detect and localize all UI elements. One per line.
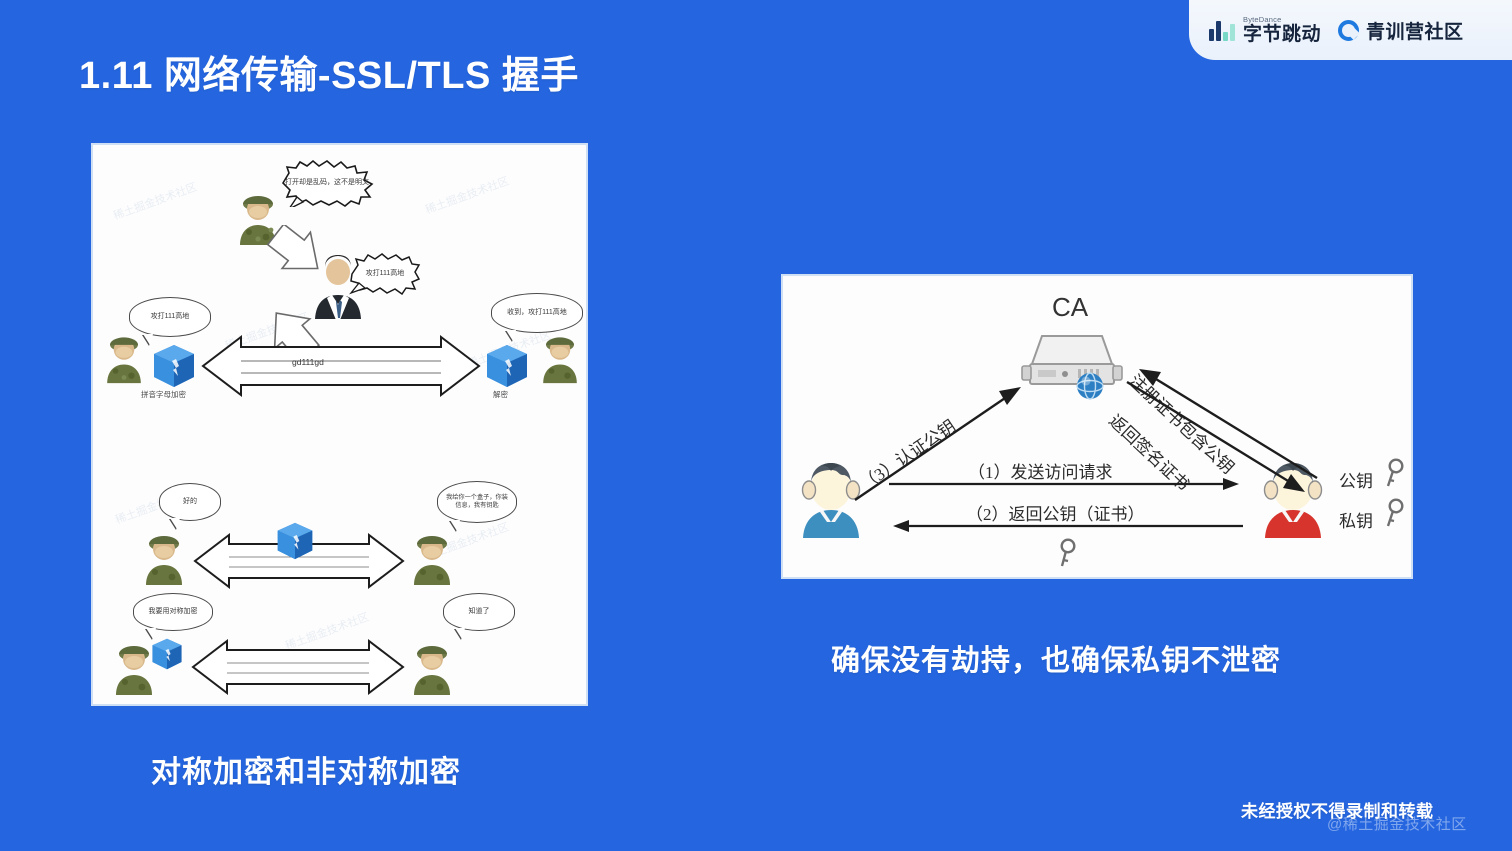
encrypt-cube-label: 拼音字母加密 bbox=[141, 389, 186, 400]
page-title: 1.11 网络传输-SSL/TLS 握手 bbox=[79, 44, 579, 99]
key-icon bbox=[1055, 538, 1079, 568]
left-figure-caption: 对称加密和非对称加密 bbox=[151, 747, 461, 791]
server-globe-icon bbox=[1020, 328, 1124, 400]
soldier-icon bbox=[409, 637, 455, 697]
speech-bubble-text: 收到，攻打111高地 bbox=[507, 309, 567, 318]
community-logo-icon bbox=[1338, 20, 1359, 41]
decryption-cube-icon bbox=[485, 343, 529, 389]
speech-bubble-text: 攻打111高地 bbox=[151, 313, 190, 322]
bytedance-logo-icon bbox=[1209, 19, 1235, 41]
bytedance-en-label: ByteDance bbox=[1243, 16, 1321, 24]
speech-bubble-man: 攻打111高地 bbox=[349, 253, 421, 295]
bidirectional-arrow bbox=[191, 639, 405, 695]
symmetric-key-cube-icon bbox=[151, 637, 183, 671]
cipher-text-label: gd111gd bbox=[292, 357, 324, 367]
key-icon bbox=[1381, 458, 1407, 488]
speech-bubble-left-soldier: 攻打111高地 bbox=[129, 297, 211, 337]
slide-root: ByteDance 字节跳动 青训营社区 1.11 网络传输-SSL/TLS 握… bbox=[0, 0, 1512, 851]
watermark: 稀土掘金技术社区 bbox=[423, 172, 511, 217]
soldier-icon bbox=[141, 527, 187, 587]
private-key-label: 私钥 bbox=[1339, 507, 1373, 532]
speech-bubble-text: 攻打111高地 bbox=[366, 270, 405, 279]
speech-bubble-right-soldier: 收到，攻打111高地 bbox=[491, 293, 583, 333]
bidirectional-arrow bbox=[201, 335, 481, 397]
speech-bubble-text: 打开却是乱码，这不是明文 bbox=[285, 179, 369, 188]
speech-bubble-text: 我给你一个盒子，你装信息，我有钥匙 bbox=[444, 494, 510, 510]
shared-key-cube-icon bbox=[276, 521, 314, 561]
encryption-cube-icon bbox=[152, 343, 196, 389]
ca-label: CA bbox=[1052, 292, 1088, 323]
speech-bubble-row3-left: 我要用对称加密 bbox=[133, 593, 213, 631]
key-icon bbox=[1381, 498, 1407, 528]
public-key-label: 公钥 bbox=[1339, 467, 1373, 492]
footer-watermark: @稀土掘金技术社区 bbox=[1327, 813, 1467, 834]
brand-badge: ByteDance 字节跳动 青训营社区 bbox=[1189, 0, 1512, 60]
speech-bubble-text: 好的 bbox=[183, 498, 197, 507]
speech-bubble-row2-left: 好的 bbox=[159, 483, 221, 521]
symmetric-encryption-figure: 稀土掘金技术社区 稀土掘金技术社区 稀土掘金技术社区 稀土掘金技术社区 稀土掘金… bbox=[91, 143, 588, 706]
decrypt-cube-label: 解密 bbox=[493, 389, 508, 400]
right-figure-caption: 确保没有劫持，也确保私钥不泄密 bbox=[831, 637, 1281, 679]
ca-certificate-figure: CA bbox=[781, 274, 1413, 579]
speech-bubble-text: 我要用对称加密 bbox=[149, 608, 198, 617]
soldier-icon bbox=[103, 329, 145, 385]
soldier-icon bbox=[409, 527, 455, 587]
speech-bubble-spy: 打开却是乱码，这不是明文 bbox=[279, 159, 375, 207]
soldier-icon bbox=[539, 329, 581, 385]
watermark: 稀土掘金技术社区 bbox=[111, 178, 199, 223]
arrow-step1-label: （1）发送访问请求 bbox=[968, 458, 1113, 483]
community-label: 青训营社区 bbox=[1366, 17, 1464, 44]
arrow-step2-label: （2）返回公钥（证书） bbox=[966, 500, 1145, 525]
speech-bubble-text: 知道了 bbox=[469, 608, 490, 617]
speech-bubble-row3-right: 知道了 bbox=[443, 593, 515, 631]
bytedance-cn-label: 字节跳动 bbox=[1243, 25, 1321, 44]
speech-bubble-row2-right: 我给你一个盒子，你装信息，我有钥匙 bbox=[437, 481, 517, 523]
